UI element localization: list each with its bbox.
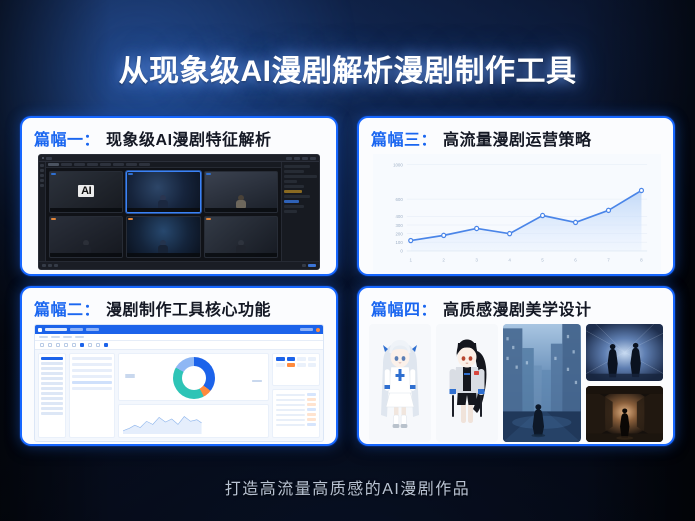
x-tick-label: 8 xyxy=(640,257,643,262)
x-tick-label: 1 xyxy=(409,257,412,262)
editor-tab xyxy=(139,163,150,166)
clip-thumbnail-grid: AI xyxy=(46,168,281,261)
dashboard-toolbar xyxy=(35,341,323,350)
clip-ai-label: AI xyxy=(78,185,94,197)
clip-thumbnail[interactable] xyxy=(126,171,200,213)
card-three-title: 高流量漫剧运营策略 xyxy=(443,126,592,150)
card-two-header: 篇幅二： 漫剧制作工具核心功能 xyxy=(22,288,336,324)
art-scene-corridor[interactable] xyxy=(586,386,664,443)
art-scene-two-silhouettes[interactable] xyxy=(586,324,664,381)
donut-chart-card xyxy=(118,353,269,401)
character-black-illustration xyxy=(436,324,498,442)
editor-tab xyxy=(61,163,72,166)
editor-titlebar xyxy=(39,155,319,162)
chart-svg: 01002003004006001000 12345678 xyxy=(373,154,661,272)
status-chip xyxy=(48,264,52,267)
editor-tab xyxy=(74,163,85,166)
clip-caption-bar xyxy=(127,253,199,257)
chart-data-point[interactable] xyxy=(475,226,479,230)
card-section-one[interactable]: 篇幅一： 现象级AI漫剧特征解析 xyxy=(20,116,338,276)
card-three-index: 篇幅三： xyxy=(371,126,437,150)
card-two-body xyxy=(22,324,336,444)
dashboard-right-column xyxy=(272,353,320,438)
quick-action-tile[interactable] xyxy=(297,363,306,367)
quick-action-tile[interactable] xyxy=(287,357,296,361)
dashboard-sidebar xyxy=(38,353,66,438)
x-tick-label: 6 xyxy=(574,257,577,262)
dashboard-menubar xyxy=(35,334,323,341)
clip-badge-icon xyxy=(128,173,133,175)
app-logo-icon xyxy=(38,328,42,332)
art-scene-city-street[interactable] xyxy=(503,324,581,442)
toolbar-icon-active[interactable] xyxy=(104,343,108,347)
card-section-four[interactable]: 篇幅四： 高质感漫剧美学设计 xyxy=(357,286,675,446)
title-area: 从现象级AI漫剧解析漫剧制作工具 xyxy=(0,46,695,90)
editor-tab xyxy=(87,163,98,166)
y-tick-label: 400 xyxy=(396,214,404,219)
sidebar-item[interactable] xyxy=(41,387,63,390)
sidebar-item[interactable] xyxy=(41,372,63,375)
rail-item xyxy=(40,174,44,177)
card-three-body: 01002003004006001000 12345678 xyxy=(359,154,673,274)
character-figure xyxy=(236,240,246,253)
y-tick-label: 600 xyxy=(396,197,404,202)
card-four-body xyxy=(359,324,673,444)
card-four-title: 高质感漫剧美学设计 xyxy=(443,296,592,320)
property-row xyxy=(284,195,310,198)
property-row xyxy=(284,210,297,213)
quick-action-tile[interactable] xyxy=(287,363,296,367)
property-row xyxy=(284,165,310,168)
y-tick-label: 200 xyxy=(396,231,404,236)
toolbar-icon[interactable] xyxy=(72,343,76,347)
video-editor-screenshot: AI xyxy=(38,154,320,270)
chart-data-point[interactable] xyxy=(508,232,512,236)
clip-thumbnail[interactable] xyxy=(204,216,278,258)
character-figure xyxy=(158,195,168,208)
property-row-highlight xyxy=(284,200,299,203)
quick-action-tile[interactable] xyxy=(308,357,317,361)
chart-data-point[interactable] xyxy=(639,188,643,192)
quick-action-tile[interactable] xyxy=(297,357,306,361)
clip-badge-icon xyxy=(51,218,56,220)
clip-badge-icon xyxy=(128,218,133,220)
table-row xyxy=(276,398,316,401)
card-two-title: 漫剧制作工具核心功能 xyxy=(106,296,271,320)
chart-data-point[interactable] xyxy=(574,220,578,224)
property-row xyxy=(284,185,304,188)
x-tick-label: 7 xyxy=(607,257,610,262)
table-row xyxy=(276,423,316,426)
trend-chart-card xyxy=(118,404,269,438)
property-row xyxy=(284,180,297,183)
city-street-illustration xyxy=(503,324,581,442)
editor-statusbar xyxy=(39,261,319,269)
table-row xyxy=(276,408,316,411)
chart-data-point[interactable] xyxy=(409,238,413,242)
clip-badge-icon xyxy=(206,173,211,175)
sidebar-item[interactable] xyxy=(41,407,63,410)
editor-main: AI xyxy=(39,162,319,261)
table-row xyxy=(276,418,316,421)
character-white-illustration xyxy=(369,324,431,442)
toolbar-icon[interactable] xyxy=(88,343,92,347)
art-character-white[interactable] xyxy=(369,324,431,442)
character-figure xyxy=(236,195,246,208)
property-row xyxy=(284,170,304,173)
property-row xyxy=(284,205,304,208)
menu-item[interactable] xyxy=(63,336,72,338)
sidebar-item[interactable] xyxy=(41,367,63,370)
sidebar-item[interactable] xyxy=(41,382,63,385)
clip-badge-icon xyxy=(206,218,211,220)
x-tick-label: 4 xyxy=(508,257,511,262)
art-gallery xyxy=(369,324,663,442)
table-row xyxy=(276,403,316,406)
clip-thumbnail[interactable] xyxy=(204,171,278,213)
sparkline-chart xyxy=(123,412,202,434)
clip-caption-bar xyxy=(50,253,122,257)
card-section-three[interactable]: 篇幅三： 高流量漫剧运营策略 010020030040060 xyxy=(357,116,675,276)
editor-left-rail xyxy=(39,162,46,261)
clip-thumbnail[interactable]: AI xyxy=(49,171,123,213)
toolbar-chip xyxy=(302,157,308,160)
character-figure xyxy=(81,240,91,253)
sidebar-item[interactable] xyxy=(41,357,63,360)
editor-tab xyxy=(126,163,137,166)
chart-data-point[interactable] xyxy=(607,208,611,212)
quick-action-tile[interactable] xyxy=(276,363,285,367)
menu-item[interactable] xyxy=(51,336,60,338)
status-chip xyxy=(302,264,306,267)
toolbar-icon[interactable] xyxy=(48,343,52,347)
window-dot-icon xyxy=(42,157,44,159)
page-title: 从现象级AI漫剧解析漫剧制作工具 xyxy=(119,46,577,90)
card-four-index: 篇幅四： xyxy=(371,296,437,320)
toolbar-icon[interactable] xyxy=(64,343,68,347)
toolbar-icon-active[interactable] xyxy=(80,343,84,347)
toolbar-icon[interactable] xyxy=(40,343,44,347)
card-one-header: 篇幅一： 现象级AI漫剧特征解析 xyxy=(22,118,336,154)
y-tick-label: 100 xyxy=(396,240,404,245)
toolbar-icon[interactable] xyxy=(56,343,60,347)
dashboard-screenshot xyxy=(34,324,324,442)
art-character-black[interactable] xyxy=(436,324,498,442)
donut-label xyxy=(125,376,135,378)
two-silhouettes-illustration xyxy=(586,324,664,381)
toolbar-chip xyxy=(310,157,316,160)
clip-caption-bar xyxy=(50,208,122,212)
table-row xyxy=(276,393,316,396)
menu-item[interactable] xyxy=(39,336,48,338)
dashboard-list-panel xyxy=(69,353,115,438)
breadcrumb xyxy=(70,328,83,331)
sidebar-item[interactable] xyxy=(41,397,63,400)
property-row xyxy=(284,175,317,178)
list-item[interactable] xyxy=(72,357,112,360)
dashboard-center-column xyxy=(118,353,269,438)
traffic-line-chart: 01002003004006001000 12345678 xyxy=(373,154,661,272)
y-tick-label: 300 xyxy=(396,223,404,228)
editor-tab xyxy=(113,163,124,166)
sidebar-item[interactable] xyxy=(41,362,63,365)
editor-tab xyxy=(100,163,111,166)
card-four-header: 篇幅四： 高质感漫剧美学设计 xyxy=(359,288,673,324)
footer-area: 打造高流量高质感的AI漫剧作品 xyxy=(0,475,695,499)
card-grid: 篇幅一： 现象级AI漫剧特征解析 xyxy=(20,116,675,456)
topbar-action[interactable] xyxy=(300,328,313,331)
rail-item xyxy=(40,164,44,167)
quick-action-tile[interactable] xyxy=(308,363,317,367)
footer-caption: 打造高流量高质感的AI漫剧作品 xyxy=(225,481,471,498)
editor-properties-panel xyxy=(281,162,319,261)
property-row-highlight xyxy=(284,190,302,193)
editor-canvas: AI xyxy=(46,162,281,261)
recent-table-card xyxy=(272,389,320,438)
list-item[interactable] xyxy=(72,363,112,366)
avatar[interactable] xyxy=(316,328,320,332)
sidebar-item[interactable] xyxy=(41,392,63,395)
table-row xyxy=(276,413,316,416)
editor-tab xyxy=(48,163,59,166)
rail-item xyxy=(40,179,44,182)
toolbar-icon[interactable] xyxy=(96,343,100,347)
quick-action-grid xyxy=(276,357,316,367)
x-tick-label: 2 xyxy=(442,257,445,262)
corridor-illustration xyxy=(586,386,664,443)
quick-actions-card xyxy=(272,353,320,386)
donut-chart xyxy=(173,357,215,399)
dashboard-topbar xyxy=(35,325,323,334)
quick-action-tile[interactable] xyxy=(276,357,285,361)
list-item[interactable] xyxy=(72,387,112,390)
breadcrumb xyxy=(86,328,99,331)
slide-canvas: 从现象级AI漫剧解析漫剧制作工具 篇幅一： 现象级AI漫剧特征解析 xyxy=(0,0,695,521)
clip-caption-bar xyxy=(205,208,277,212)
x-tick-label: 5 xyxy=(541,257,544,262)
sidebar-item[interactable] xyxy=(41,377,63,380)
card-section-two[interactable]: 篇幅二： 漫剧制作工具核心功能 xyxy=(20,286,338,446)
status-chip xyxy=(54,264,58,267)
clip-badge-icon xyxy=(51,173,56,175)
sidebar-item[interactable] xyxy=(41,412,63,415)
y-tick-label: 1000 xyxy=(393,162,403,167)
sidebar-item[interactable] xyxy=(41,402,63,405)
rail-item xyxy=(40,184,44,187)
card-one-index: 篇幅一： xyxy=(34,126,100,150)
art-scene-column xyxy=(503,324,663,442)
card-two-index: 篇幅二： xyxy=(34,296,100,320)
menu-item[interactable] xyxy=(75,336,84,338)
character-figure xyxy=(158,240,168,253)
donut-label xyxy=(252,380,262,382)
art-scene-stack xyxy=(586,324,664,442)
clip-thumbnail[interactable] xyxy=(49,216,123,258)
card-one-body: AI xyxy=(22,154,336,274)
x-tick-label: 3 xyxy=(475,257,478,262)
chart-data-point[interactable] xyxy=(541,213,545,217)
status-chip xyxy=(42,264,46,267)
toolbar-chip xyxy=(294,157,300,160)
app-name-text xyxy=(45,328,67,331)
rail-item xyxy=(40,169,44,172)
card-three-header: 篇幅三： 高流量漫剧运营策略 xyxy=(359,118,673,154)
chart-data-point[interactable] xyxy=(442,233,446,237)
dashboard-body xyxy=(35,350,323,441)
clip-caption-bar xyxy=(127,208,199,212)
list-item[interactable] xyxy=(72,375,112,378)
clip-thumbnail[interactable] xyxy=(126,216,200,258)
list-item[interactable] xyxy=(72,369,112,372)
card-one-title: 现象级AI漫剧特征解析 xyxy=(106,126,272,150)
clip-caption-bar xyxy=(205,253,277,257)
menu-chip xyxy=(46,157,52,160)
toolbar-chip xyxy=(286,157,292,160)
export-button[interactable] xyxy=(308,264,316,267)
list-item-selected[interactable] xyxy=(72,381,112,384)
